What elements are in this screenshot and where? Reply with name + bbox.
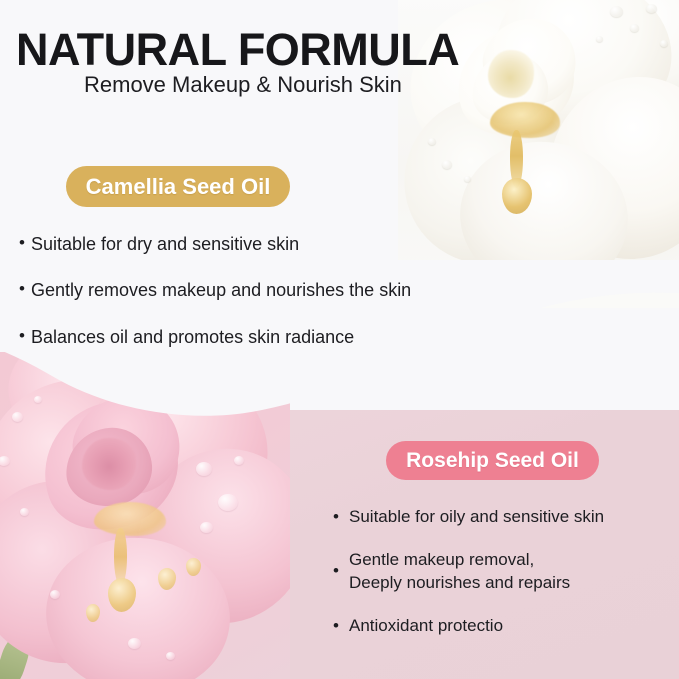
badge-rosehip-seed-oil: Rosehip Seed Oil [386, 441, 599, 480]
list-item: • Antioxidant protectio [333, 615, 604, 638]
badge-rosehip-label: Rosehip Seed Oil [406, 449, 579, 473]
rosehip-benefits-list: • Suitable for oily and sensitive skin •… [333, 506, 604, 658]
page-title: NATURAL FORMULA [16, 27, 459, 72]
badge-camellia-seed-oil: Camellia Seed Oil [66, 166, 290, 207]
list-item: • Gently removes makeup and nourishes th… [19, 278, 411, 302]
list-item-label: Gently removes makeup and nourishes the … [31, 278, 411, 302]
list-item-line-1: Gentle makeup removal, [349, 550, 534, 569]
list-item-label: Gentle makeup removal, Deeply nourishes … [349, 549, 570, 595]
list-item-label: Balances oil and promotes skin radiance [31, 325, 354, 349]
bullet-icon: • [19, 278, 31, 301]
list-item-label: Suitable for dry and sensitive skin [31, 232, 299, 256]
list-item-label: Suitable for oily and sensitive skin [349, 506, 604, 529]
bullet-icon: • [333, 615, 349, 638]
page-subtitle: Remove Makeup & Nourish Skin [84, 72, 402, 98]
poster-content: NATURAL FORMULA Remove Makeup & Nourish … [0, 0, 679, 679]
bullet-icon: • [333, 506, 349, 529]
list-item-line-2: Deeply nourishes and repairs [349, 572, 570, 595]
list-item: • Gentle makeup removal, Deeply nourishe… [333, 549, 604, 595]
bullet-icon: • [333, 560, 349, 583]
bullet-icon: • [19, 232, 31, 255]
list-item: • Balances oil and promotes skin radianc… [19, 325, 411, 349]
infographic-poster: NATURAL FORMULA Remove Makeup & Nourish … [0, 0, 679, 679]
camellia-benefits-list: • Suitable for dry and sensitive skin • … [19, 232, 411, 371]
list-item-label: Antioxidant protectio [349, 615, 503, 638]
list-item: • Suitable for dry and sensitive skin [19, 232, 411, 256]
list-item: • Suitable for oily and sensitive skin [333, 506, 604, 529]
badge-camellia-label: Camellia Seed Oil [86, 174, 271, 200]
bullet-icon: • [19, 325, 31, 348]
